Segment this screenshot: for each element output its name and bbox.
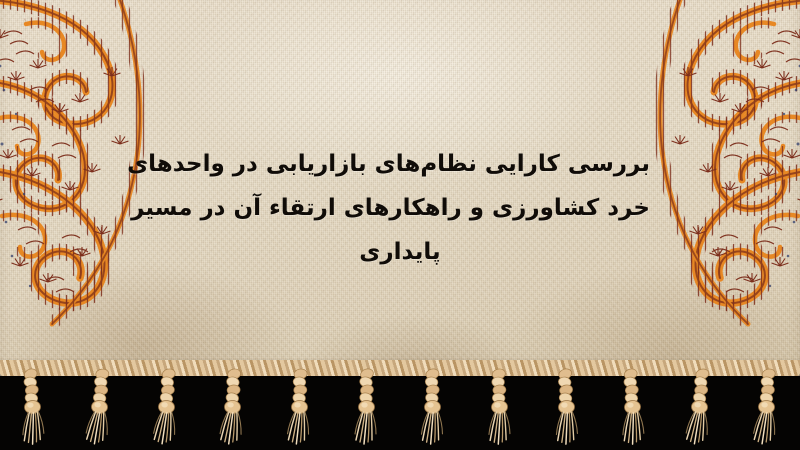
fringe-tassel	[219, 368, 248, 447]
fringe-tassel	[420, 368, 447, 446]
title-line-1: بررسی کارایی نظام‌های بازاریابی در واحده…	[150, 142, 650, 186]
slide-canvas: بررسی کارایی نظام‌های بازاریابی در واحده…	[0, 0, 800, 450]
fringe-tassel	[84, 367, 115, 447]
title-line-3: پایداری	[150, 230, 650, 274]
fringe-tassel	[286, 368, 313, 446]
fringe-tassel	[354, 368, 380, 446]
fringe-tassel	[486, 368, 515, 447]
title-line-2: خرد کشاورزی و راهکارهای ارتقاء آن در مسی…	[150, 186, 650, 230]
fringe-tassel	[752, 367, 782, 446]
fringe-tassel	[618, 367, 649, 447]
fringe-braid-band	[0, 360, 800, 376]
fringe-tassel	[552, 367, 582, 446]
fringe-tassel	[152, 367, 182, 446]
fringe-tassel	[18, 367, 49, 447]
tassel-fringe	[0, 360, 800, 450]
fringe-tassel	[684, 367, 715, 447]
slide-title: بررسی کارایی نظام‌های بازاریابی در واحده…	[150, 142, 650, 274]
